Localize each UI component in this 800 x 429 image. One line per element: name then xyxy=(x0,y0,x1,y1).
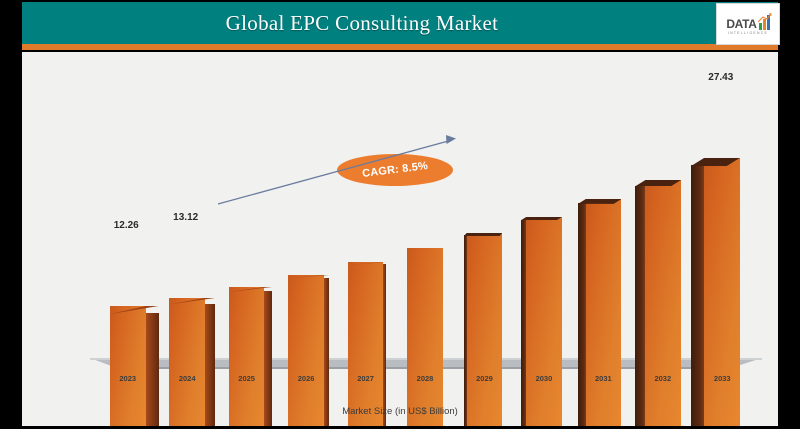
bar-front-face xyxy=(467,233,503,426)
cagr-label: CAGR: 8.5% xyxy=(361,160,428,180)
x-axis-label-2033: 2033 xyxy=(702,374,742,383)
x-axis-label-2026: 2026 xyxy=(286,374,326,383)
bar-2033 xyxy=(691,158,740,426)
bar-side-face xyxy=(635,186,645,426)
bar-front-face xyxy=(348,262,384,426)
bar-top-cap xyxy=(521,217,562,220)
logo-wordmark-row: DATA xyxy=(726,13,769,30)
x-axis-label-2031: 2031 xyxy=(583,374,623,383)
page-title: Global EPC Consulting Market xyxy=(22,2,702,44)
bar-2032 xyxy=(635,180,681,426)
x-axis-label-2027: 2027 xyxy=(346,374,386,383)
bar-side-face xyxy=(324,278,329,426)
bar-front-face xyxy=(526,217,562,426)
axis-title: Market Size (in US$ Billion) xyxy=(22,406,778,417)
bar-front-face xyxy=(645,180,681,426)
header-accent-line xyxy=(22,44,778,50)
bar-side-face xyxy=(578,203,586,426)
bar-top-cap xyxy=(288,275,329,278)
bar-top-cap xyxy=(169,298,215,304)
bar-top-cap xyxy=(578,199,621,204)
bar-value-label-2023: 12.26 xyxy=(114,220,139,231)
logo-bar-1 xyxy=(759,23,762,30)
bar-top-cap xyxy=(348,262,386,265)
bar-side-face xyxy=(521,220,526,426)
bar-top-cap xyxy=(110,306,159,314)
chart-panel: CAGR: 8.5% Market Size (in US$ Billion) … xyxy=(22,52,778,426)
bar-front-face xyxy=(407,248,443,426)
logo-subtitle: INTELLIGENCE xyxy=(728,31,768,35)
brand-logo: DATA INTELLIGENCE xyxy=(716,3,780,45)
bar-2028 xyxy=(407,248,443,426)
bar-front-face xyxy=(586,199,622,426)
bar-2029 xyxy=(464,233,502,426)
bar-side-face xyxy=(383,264,386,426)
bar-side-face xyxy=(691,165,704,426)
logo-wordmark: DATA xyxy=(726,18,756,30)
x-axis-label-2023: 2023 xyxy=(108,374,148,383)
bar-side-face xyxy=(464,235,467,426)
bar-2030 xyxy=(521,217,562,426)
screenshot-root: Global EPC Consulting Market DATA INTELL… xyxy=(0,0,800,429)
cagr-callout: CAGR: 8.5% xyxy=(337,154,453,186)
logo-bar-chart-icon xyxy=(758,15,770,30)
bar-front-face xyxy=(704,158,740,426)
bar-value-label-2033: 27.43 xyxy=(708,72,733,83)
x-axis-label-2028: 2028 xyxy=(405,374,445,383)
bar-2027 xyxy=(348,262,386,426)
bar-value-label-2024: 13.12 xyxy=(173,212,198,223)
logo-growth-arrow-icon xyxy=(758,13,772,23)
bar-2026 xyxy=(288,275,329,426)
x-axis-label-2032: 2032 xyxy=(643,374,683,383)
bar-front-face xyxy=(288,275,324,426)
x-axis-label-2030: 2030 xyxy=(524,374,564,383)
bar-top-cap xyxy=(229,287,272,292)
bar-top-cap xyxy=(464,233,502,236)
bar-chart-plot xyxy=(22,52,778,426)
bar-2031 xyxy=(578,199,621,426)
bar-top-cap xyxy=(635,180,681,186)
x-axis-label-2025: 2025 xyxy=(227,374,267,383)
bar-top-cap xyxy=(691,158,740,166)
x-axis-label-2029: 2029 xyxy=(464,374,504,383)
x-axis-label-2024: 2024 xyxy=(167,374,207,383)
